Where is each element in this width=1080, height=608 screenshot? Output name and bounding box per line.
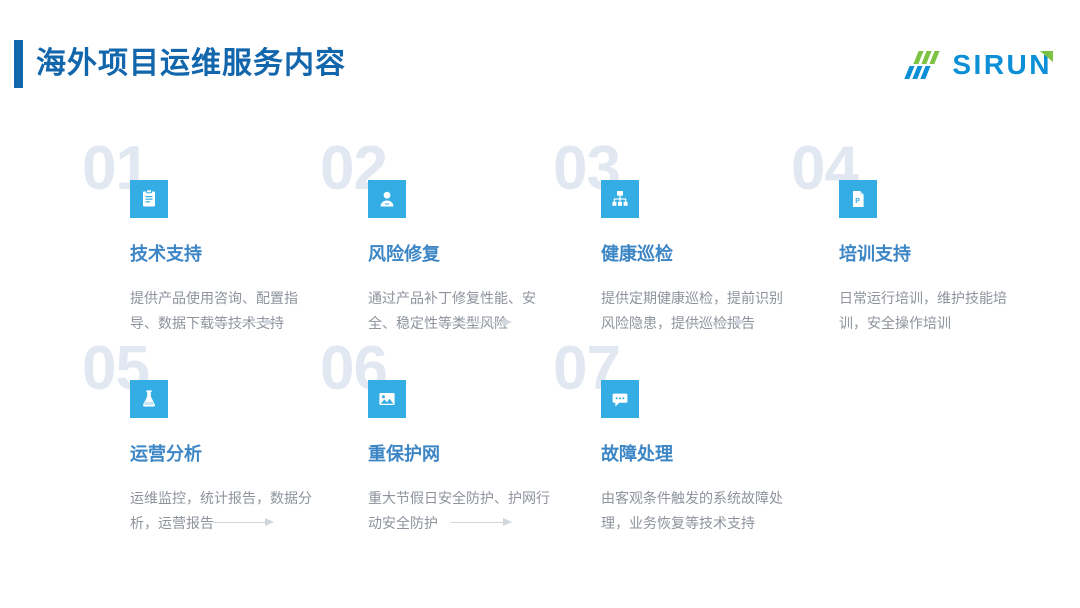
arrow-06-to-07 [451,518,513,527]
card-description: 运维监控，统计报告，数据分析，运营报告 [130,486,322,536]
arrow-head-icon [265,518,274,526]
title-accent-bar [14,40,23,88]
service-card-grid: 01 技术支持 提供产品使用咨询、配置指导、数据下载等技术支持 02 风险修复 [0,120,1080,608]
arrow-line [684,322,736,323]
brand-logo: SIRUN [903,48,1052,82]
image-icon [368,380,406,418]
card-description: 提供定期健康巡检，提前识别风险隐患，提供巡检报告 [601,286,793,336]
card-title: 运营分析 [130,442,202,466]
document-icon: P [839,180,877,218]
brand-logo-wordmark: SIRUN [952,49,1052,80]
card-title: 技术支持 [130,242,202,266]
sirun-slashes-logo-icon [903,50,943,80]
svg-text:P: P [855,198,860,205]
arrow-05-to-06 [213,518,275,527]
arrow-line [451,322,503,323]
arrow-02-to-03 [451,318,513,327]
card-description: 重大节假日安全防护、护网行动安全防护 [368,486,560,536]
chat-icon [601,380,639,418]
page-title: 海外项目运维服务内容 [36,43,346,85]
user-icon [368,180,406,218]
arrow-line [213,522,265,523]
clipboard-icon [130,180,168,218]
card-description: 由客观条件触发的系统故障处理，业务恢复等技术支持 [601,486,793,536]
card-title: 风险修复 [368,242,440,266]
brand-logo-text: SIRUN [952,50,1052,80]
page-header: 海外项目运维服务内容 SIRUN [0,0,1080,120]
arrow-head-icon [265,318,274,326]
card-description: 通过产品补丁修复性能、安全、稳定性等类型风险 [368,286,560,336]
card-title: 故障处理 [601,442,673,466]
card-description: 提供产品使用咨询、配置指导、数据下载等技术支持 [130,286,322,336]
card-description: 日常运行培训，维护技能培训，安全操作培训 [839,286,1031,336]
card-title: 重保护网 [368,442,440,466]
arrow-head-icon [503,518,512,526]
arrow-03-to-04 [684,318,746,327]
sitemap-icon [601,180,639,218]
arrow-line [451,522,503,523]
card-title: 培训支持 [839,242,911,266]
flask-icon [130,380,168,418]
arrow-head-icon [736,318,745,326]
card-title: 健康巡检 [601,242,673,266]
arrow-line [213,322,265,323]
arrow-head-icon [503,318,512,326]
arrow-01-to-02 [213,318,275,327]
